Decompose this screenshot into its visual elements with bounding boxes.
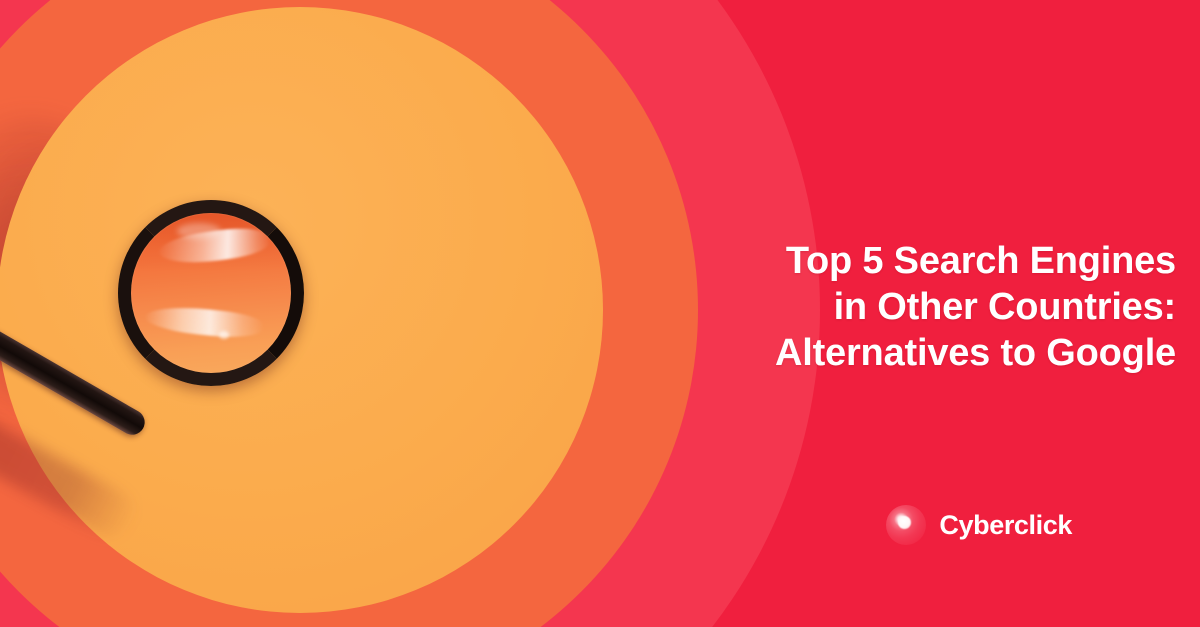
promo-banner: Top 5 Search Engines in Other Countries:… [0,0,1200,627]
cyberclick-radar-dot-icon [886,505,926,545]
page-title: Top 5 Search Engines in Other Countries:… [656,238,1176,376]
title-line-2: in Other Countries: [656,284,1176,330]
brand-name: Cyberclick [939,512,1072,539]
brand-logo[interactable]: Cyberclick [886,505,1072,545]
magnifying-glass-icon [0,180,320,480]
title-line-3: Alternatives to Google [656,330,1176,376]
magnifier-rim [118,200,304,386]
title-line-1: Top 5 Search Engines [656,238,1176,284]
